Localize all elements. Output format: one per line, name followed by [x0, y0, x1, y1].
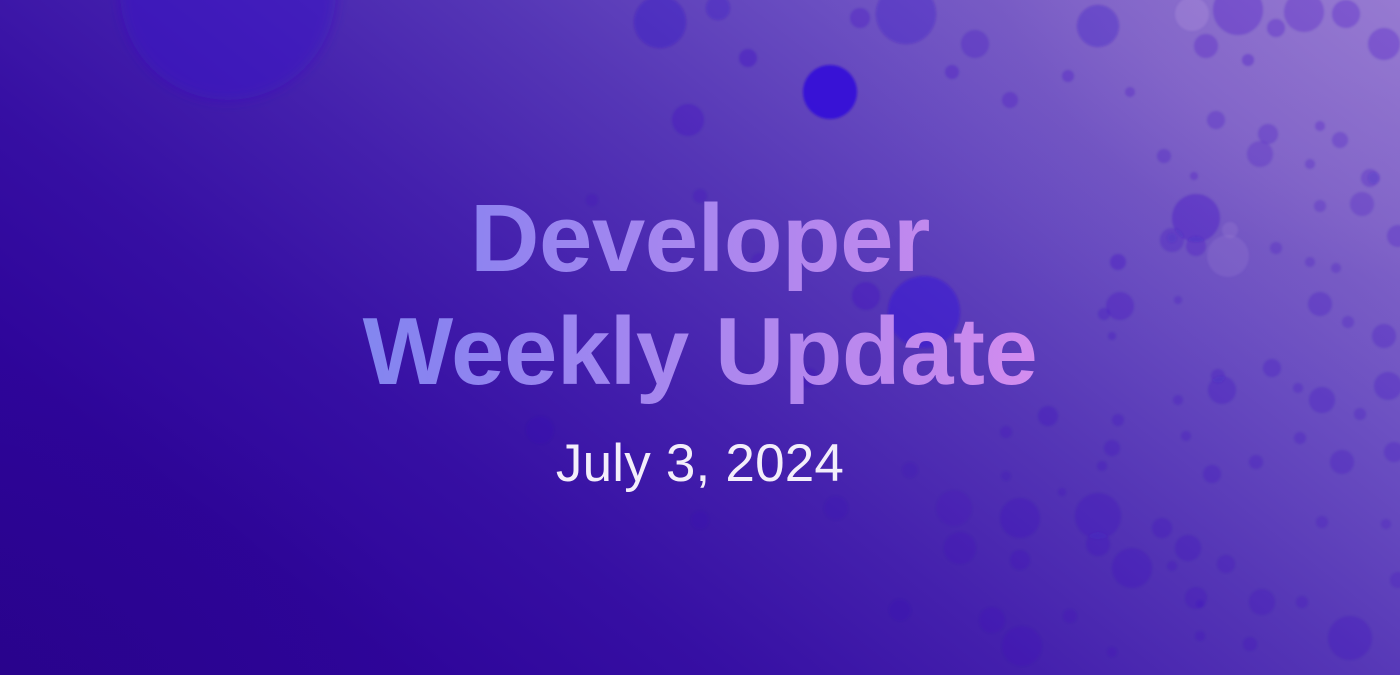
issue-date: July 3, 2024 — [556, 435, 844, 493]
page-title-line-2: Weekly Update — [363, 295, 1038, 408]
page-title-line-1: Developer — [363, 182, 1038, 295]
banner-content: Developer Weekly Update July 3, 2024 — [0, 0, 1400, 675]
page-title: Developer Weekly Update — [323, 182, 1078, 409]
developer-weekly-update-banner: Developer Weekly Update July 3, 2024 — [0, 0, 1400, 675]
